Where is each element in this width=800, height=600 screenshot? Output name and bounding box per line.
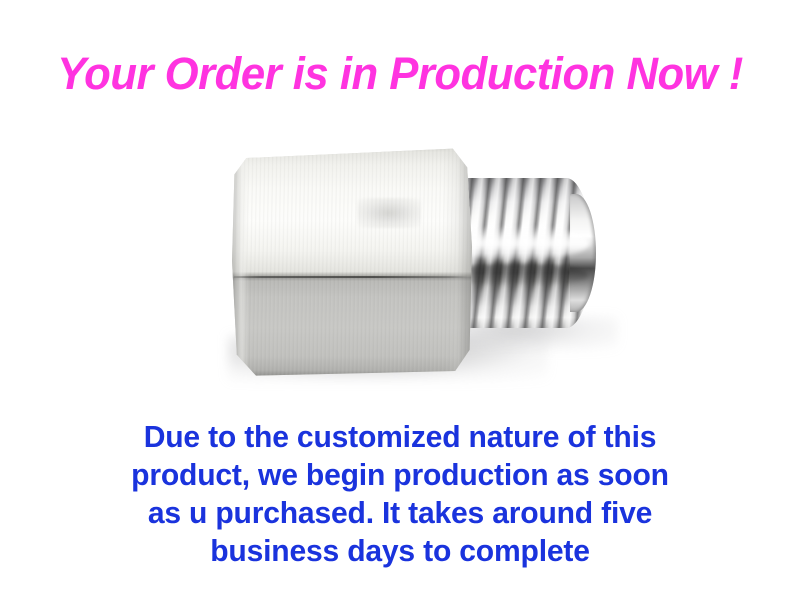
hex-stamped-marking [357, 198, 421, 228]
notice-line: business days to complete [12, 532, 788, 570]
hex-left-chamfer [232, 153, 249, 368]
hex-body [232, 144, 472, 378]
hex-shape [232, 144, 472, 378]
page-title: Your Order is in Production Now ! [12, 48, 788, 100]
hex-brushed-texture [232, 144, 472, 378]
notice-line: Due to the customized nature of this [12, 418, 788, 456]
notice-line: as u purchased. It takes around five [12, 494, 788, 532]
hex-facet-divider [234, 276, 467, 278]
production-notice-text: Due to the customized nature of this pro… [12, 418, 788, 570]
promo-banner: Your Order is in Production Now ! [0, 0, 800, 600]
notice-line: product, we begin production as soon [12, 456, 788, 494]
hex-right-chamfer [443, 151, 472, 371]
product-photo [180, 120, 650, 410]
